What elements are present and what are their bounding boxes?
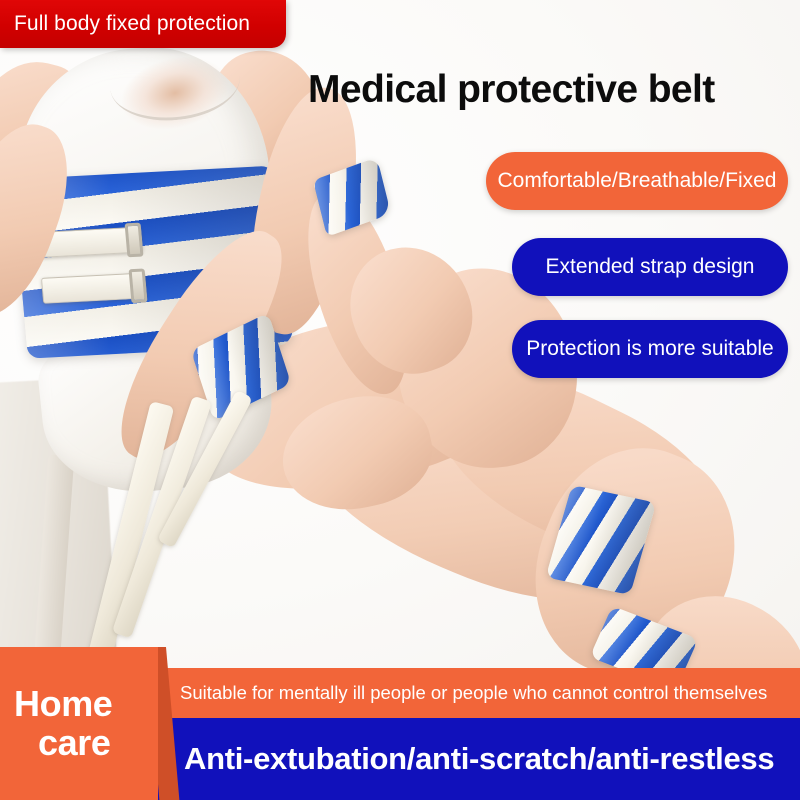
caption-banner: Suitable for mentally ill people or peop…: [150, 668, 800, 718]
belt-buckle: [129, 268, 148, 303]
feature-badge-label: Protection is more suitable: [526, 337, 773, 361]
home-care-block: Home care: [0, 647, 158, 800]
top-ribbon-banner: Full body fixed protection: [0, 0, 286, 48]
home-care-line-2: care: [14, 724, 158, 763]
belt-buckle: [125, 223, 144, 258]
headline-banner: Anti-extubation/anti-scratch/anti-restle…: [150, 718, 800, 800]
page-title: Medical protective belt: [308, 68, 715, 112]
feature-badge-comfort: Comfortable/Breathable/Fixed: [486, 152, 788, 210]
ribbon-label: Full body fixed protection: [14, 12, 250, 36]
product-poster: Full body fixed protection Medical prote…: [0, 0, 800, 800]
feature-badge-protection: Protection is more suitable: [512, 320, 788, 378]
headline-label: Anti-extubation/anti-scratch/anti-restle…: [184, 741, 774, 777]
home-care-line-1: Home: [14, 685, 158, 724]
caption-label: Suitable for mentally ill people or peop…: [180, 682, 767, 704]
feature-badge-label: Extended strap design: [546, 255, 755, 279]
feature-badge-label: Comfortable/Breathable/Fixed: [498, 169, 777, 193]
feature-badge-strap: Extended strap design: [512, 238, 788, 296]
